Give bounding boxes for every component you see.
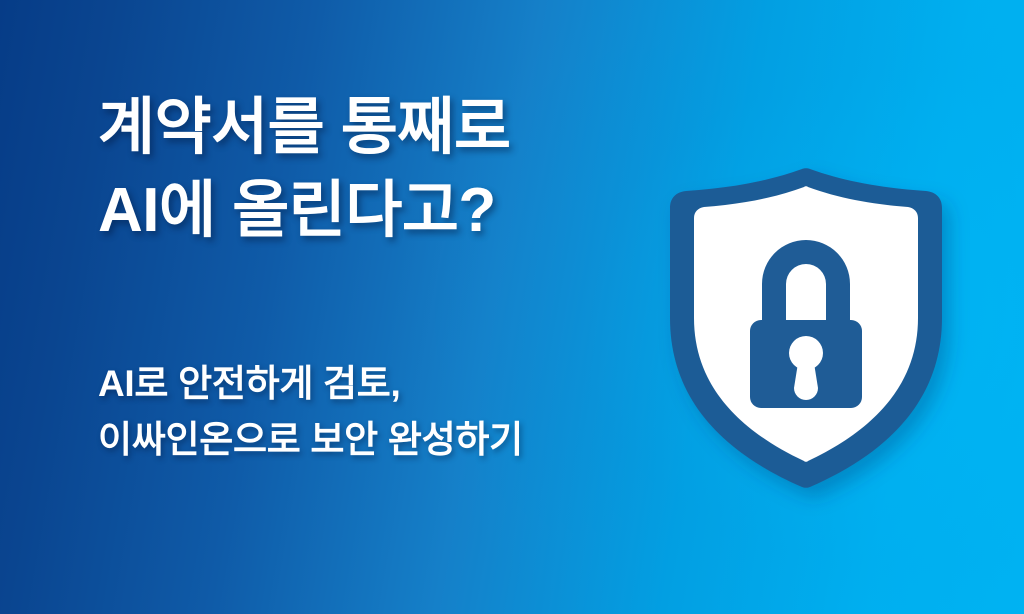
page-title: 계약서를 통째로 AI에 올린다고? [98,86,658,252]
promo-banner: 계약서를 통째로 AI에 올린다고? AI로 안전하게 검토, 이싸인온으로 보… [0,0,1024,614]
subtitle-text: AI로 안전하게 검토, 이싸인온으로 보안 완성하기 [98,356,698,468]
headline-block: 계약서를 통째로 AI에 올린다고? [98,86,658,252]
shield-lock-icon [656,168,956,498]
